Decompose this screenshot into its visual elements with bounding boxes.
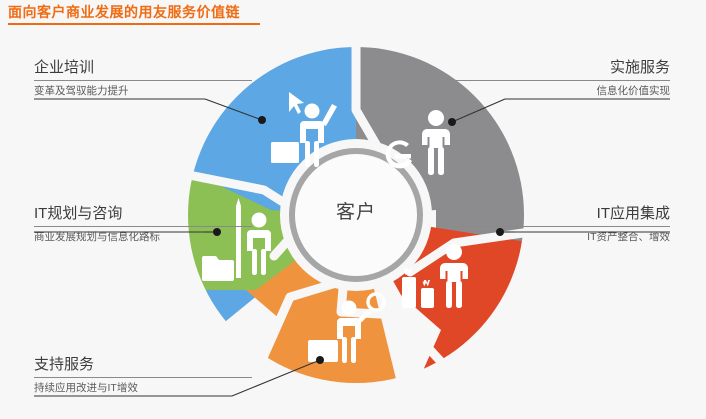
label-implementation-title: 实施服务 — [610, 58, 670, 78]
label-it-application-subtitle: IT资产整合、增效 — [452, 230, 670, 244]
label-training-subtitle: 变革及驾驭能力提升 — [34, 84, 252, 98]
label-training-rule — [34, 80, 252, 81]
label-it-planning-title: IT规划与咨询 — [34, 204, 122, 224]
label-it-application-title: IT应用集成 — [597, 204, 670, 224]
label-it-planning-rule — [34, 226, 252, 227]
label-it-application-rule — [452, 226, 670, 227]
page-title: 面向客户商业发展的用友服务价值链 — [8, 4, 288, 21]
label-implementation-subtitle: 信息化价值实现 — [452, 84, 670, 98]
center-label: 客户 — [310, 197, 402, 224]
label-support-title: 支持服务 — [34, 355, 94, 375]
label-support-rule — [34, 377, 252, 378]
diagram-canvas: 面向客户商业发展的用友服务价值链 — [0, 0, 706, 419]
label-it-planning-subtitle: 商业发展规划与信息化路标 — [34, 230, 252, 244]
label-it-planning[interactable]: IT规划与咨询 商业发展规划与信息化路标 — [34, 204, 252, 244]
label-training-title: 企业培训 — [34, 58, 94, 78]
label-support[interactable]: 支持服务 持续应用改进与IT增效 — [34, 355, 252, 395]
page-title-block: 面向客户商业发展的用友服务价值链 — [8, 4, 288, 25]
label-implementation[interactable]: 实施服务 信息化价值实现 — [452, 58, 670, 98]
title-underline — [8, 23, 260, 25]
label-training[interactable]: 企业培训 变革及驾驭能力提升 — [34, 58, 252, 98]
label-support-subtitle: 持续应用改进与IT增效 — [34, 381, 252, 395]
label-implementation-rule — [452, 80, 670, 81]
label-it-application[interactable]: IT应用集成 IT资产整合、增效 — [452, 204, 670, 244]
